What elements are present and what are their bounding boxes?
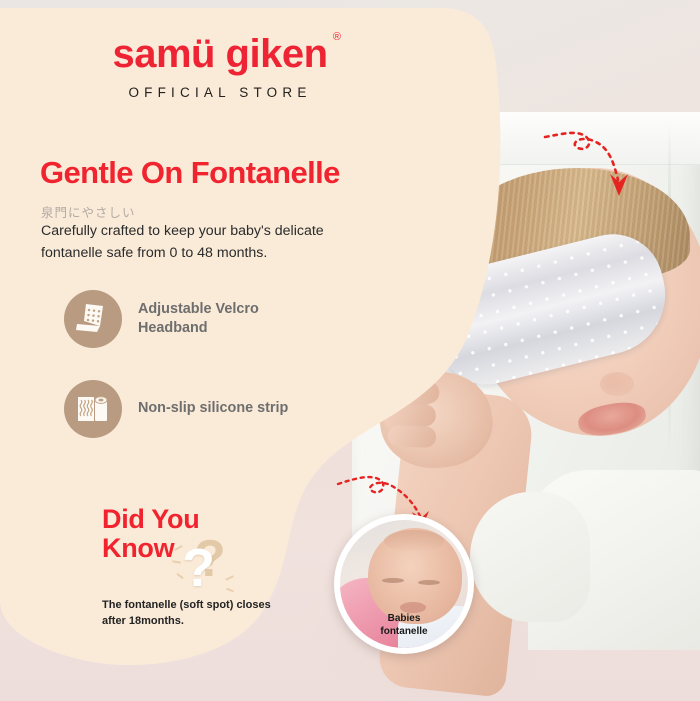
newborn-mouth <box>400 602 426 613</box>
ad-creative: samü giken ® OFFICIAL STORE Gentle On Fo… <box>0 0 700 701</box>
registered-trademark-icon: ® <box>333 32 341 43</box>
hero-description: Carefully crafted to keep your baby's de… <box>41 220 341 264</box>
brand-wordmark-text: samü giken <box>112 32 327 76</box>
did-you-know-caption: The fontanelle (soft spot) closes after … <box>102 598 292 630</box>
question-mark-icon: ? <box>182 541 215 595</box>
page-title: Gentle On Fontanelle <box>40 157 420 188</box>
feature-item-velcro-headband: Adjustable Velcro Headband <box>64 290 303 348</box>
feature-item-silicone-strip: Non-slip silicone strip <box>64 380 303 438</box>
sparkle-icon <box>172 560 181 564</box>
silicone-strip-icon <box>73 389 113 429</box>
newborn-eye-left <box>382 578 404 583</box>
callout-label-line2: fontanelle <box>340 626 468 639</box>
japanese-subtitle: 泉門にやさしい <box>41 202 136 221</box>
sparkle-icon <box>225 575 234 581</box>
fontanelle-area <box>384 530 444 552</box>
brand-subtitle: OFFICIAL STORE <box>0 85 440 100</box>
feature-label: Adjustable Velcro Headband <box>138 300 303 339</box>
brand-wordmark: samü giken ® <box>112 34 327 74</box>
callout-label-line1: Babies <box>340 613 468 626</box>
feature-badge <box>64 290 122 348</box>
feature-badge <box>64 380 122 438</box>
callout-label: Babies fontanelle <box>340 613 468 638</box>
sparkle-icon <box>226 588 234 593</box>
velcro-headband-icon <box>73 299 113 339</box>
question-mark-decoration: ? ? <box>170 535 260 607</box>
newborn-eye-right <box>418 580 440 585</box>
feature-label: Non-slip silicone strip <box>138 399 303 418</box>
newborn-photo: Babies fontanelle <box>340 520 468 648</box>
did-you-know-line1: Did You <box>102 505 362 534</box>
brand-logo: samü giken ® OFFICIAL STORE <box>0 34 440 100</box>
fontanelle-callout: Babies fontanelle <box>334 514 474 654</box>
